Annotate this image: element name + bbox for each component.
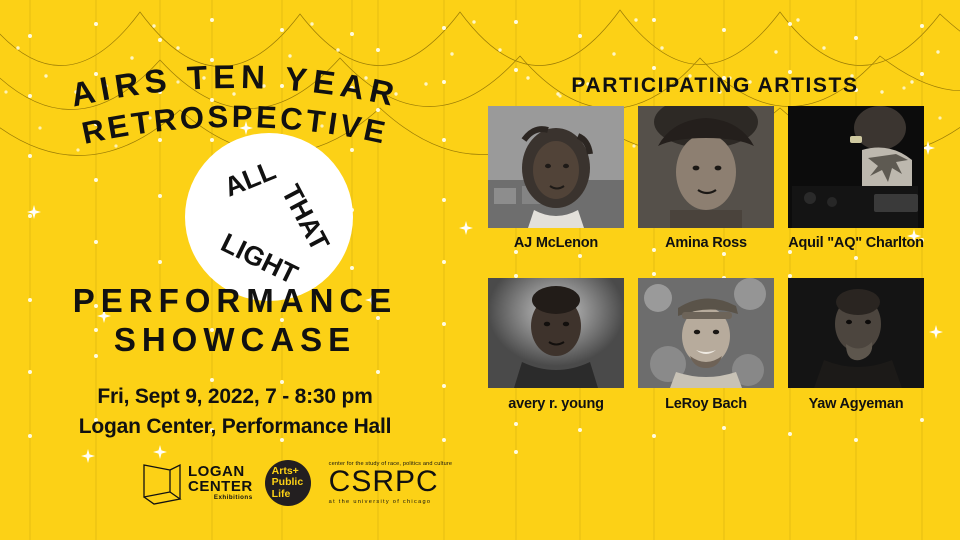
participating-artists-heading: PARTICIPATING ARTISTS: [470, 74, 960, 98]
badge-word-that: THAT: [276, 180, 336, 256]
logan-line-2: CENTER: [188, 479, 253, 494]
poster: AIRS TEN YEAR RETROSPECTIVE ALL THAT LIG…: [0, 0, 960, 540]
apl-line-3: Life: [272, 489, 291, 500]
artist-photo: [638, 278, 774, 388]
artist-card: LeRoy Bach: [638, 278, 774, 420]
artist-photo: [788, 106, 924, 228]
footer: LOGAN CENTER Exhibitions Arts+ Public Li…: [0, 452, 960, 540]
badge-word-light: LIGHT: [216, 227, 302, 290]
event-details: Fri, Sept 9, 2022, 7 - 8:30 pm Logan Cen…: [0, 382, 470, 442]
csrpc-acronym: CSRPC: [329, 468, 452, 497]
badge-word-all: ALL: [220, 155, 280, 202]
artist-photo: [788, 278, 924, 388]
all-that-light-badge: ALL THAT LIGHT: [185, 133, 353, 301]
event-date: Fri, Sept 9, 2022, 7 - 8:30 pm: [0, 382, 470, 412]
artist-photo: [488, 278, 624, 388]
artist-card: Amina Ross: [638, 106, 774, 271]
artist-card: avery r. young: [488, 278, 624, 420]
artist-grid-row-1: AJ McLenon Amina Ross: [488, 106, 944, 271]
logan-center-logo: LOGAN CENTER Exhibitions: [140, 461, 253, 505]
event-venue: Logan Center, Performance Hall: [0, 412, 470, 442]
artist-name: avery r. young: [488, 396, 624, 420]
apl-line-2: Public: [272, 477, 304, 488]
artist-photo: [488, 106, 624, 228]
artist-name: Amina Ross: [638, 235, 774, 271]
artist-name: Aquil "AQ" Charlton: [788, 235, 924, 271]
logan-center-wordmark: LOGAN CENTER Exhibitions: [188, 464, 253, 501]
logan-center-mark: [140, 461, 182, 505]
artist-name: Yaw Agyeman: [788, 396, 924, 420]
artist-grid-row-2: avery r. young: [488, 278, 944, 420]
arts-public-life-logo: Arts+ Public Life: [265, 460, 311, 506]
showcase-heading: PERFORMANCE SHOWCASE: [0, 282, 470, 360]
artist-photo: [638, 106, 774, 228]
csrpc-logo: center for the study of race, politics a…: [329, 461, 452, 505]
logan-line-1: LOGAN: [188, 464, 253, 479]
artist-card: Aquil "AQ" Charlton: [788, 106, 924, 271]
artist-card: AJ McLenon: [488, 106, 624, 271]
artist-card: Yaw Agyeman: [788, 278, 924, 420]
partner-logos: LOGAN CENTER Exhibitions Arts+ Public Li…: [140, 460, 452, 506]
logan-line-3: Exhibitions: [188, 495, 253, 501]
showcase-line-2: SHOWCASE: [0, 321, 470, 360]
showcase-line-1: PERFORMANCE: [0, 282, 470, 321]
artist-name: AJ McLenon: [488, 235, 624, 271]
artist-name: LeRoy Bach: [638, 396, 774, 420]
csrpc-affiliation: at the university of chicago: [329, 499, 452, 505]
